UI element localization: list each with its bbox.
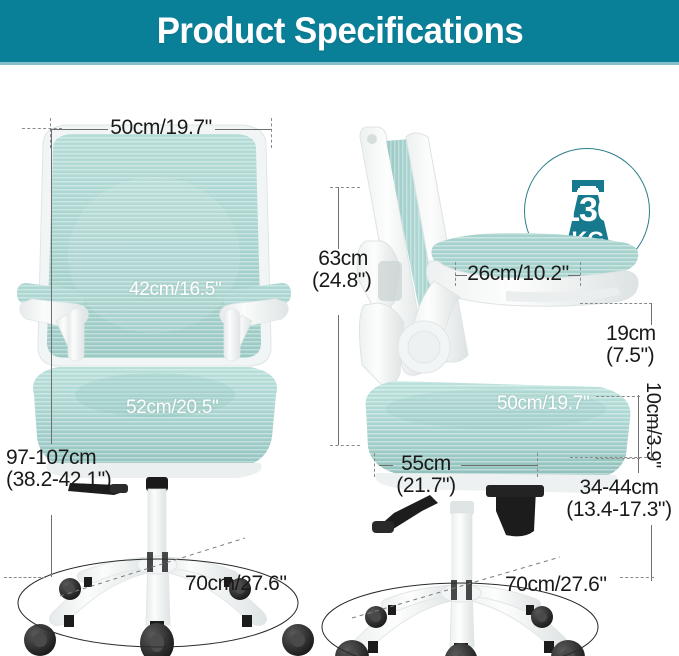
tick-bottom-overall-height [4, 577, 46, 578]
tick-left-armrest-length [455, 262, 456, 286]
leader-lower-overall-height [51, 515, 52, 577]
tick-right-seat-front-depth [537, 453, 538, 477]
dim-backrest-height: 63cm (24.8") [312, 248, 368, 293]
tick-bottom-seat-height [620, 577, 654, 578]
dim-side-base-diameter: 70cm/27.6" [505, 574, 607, 596]
front-view-chair [10, 65, 340, 656]
leader-right-seat-front-depth [461, 465, 537, 466]
leader-seat-thickness [638, 395, 639, 473]
dim-backrest-width: 50cm/19.7" [98, 117, 224, 139]
dim-seat-width: 52cm/20.5" [126, 397, 218, 419]
leader-upper-backrest-height [338, 187, 339, 249]
tick-top-seat-thickness [596, 396, 640, 397]
dim-backrest-inner-width: 42cm/16.5" [129, 279, 221, 301]
tick-bottom-seat-thickness [596, 458, 640, 459]
dim-armrest-length: 26cm/10.2" [462, 263, 574, 285]
tick-top-armrest-height [580, 303, 652, 304]
tick-right-backrest-width [271, 118, 272, 148]
dim-seat-thickness: 10cm/3.9" [641, 382, 664, 468]
leader-seat-height [651, 525, 652, 581]
header-banner: Product Specifications [0, 0, 679, 62]
tick-top-overall-height [22, 128, 62, 129]
tick-left-seat-front-depth [374, 453, 375, 477]
leader-lower-backrest-height [338, 315, 339, 445]
tick-top-backrest-height [330, 187, 360, 188]
specification-diagram: 136 KG [0, 65, 679, 656]
dim-overall-height: 97-107cm (38.2-42.1") [6, 447, 111, 492]
tick-bottom-backrest-height [330, 445, 360, 446]
leader-upper-overall-height [51, 129, 52, 444]
tick-right-armrest-length [580, 262, 581, 286]
dim-seat-depth: 50cm/19.7" [497, 393, 589, 415]
page-title: Product Specifications [156, 10, 523, 52]
dim-armrest-height: 19cm (7.5") [606, 323, 656, 368]
dim-front-base-diameter: 70cm/27.6" [185, 573, 287, 595]
dim-seat-height: 34-44cm (13.4-17.3") [560, 477, 678, 522]
dim-seat-front-depth: 55cm (21.7") [390, 453, 462, 498]
